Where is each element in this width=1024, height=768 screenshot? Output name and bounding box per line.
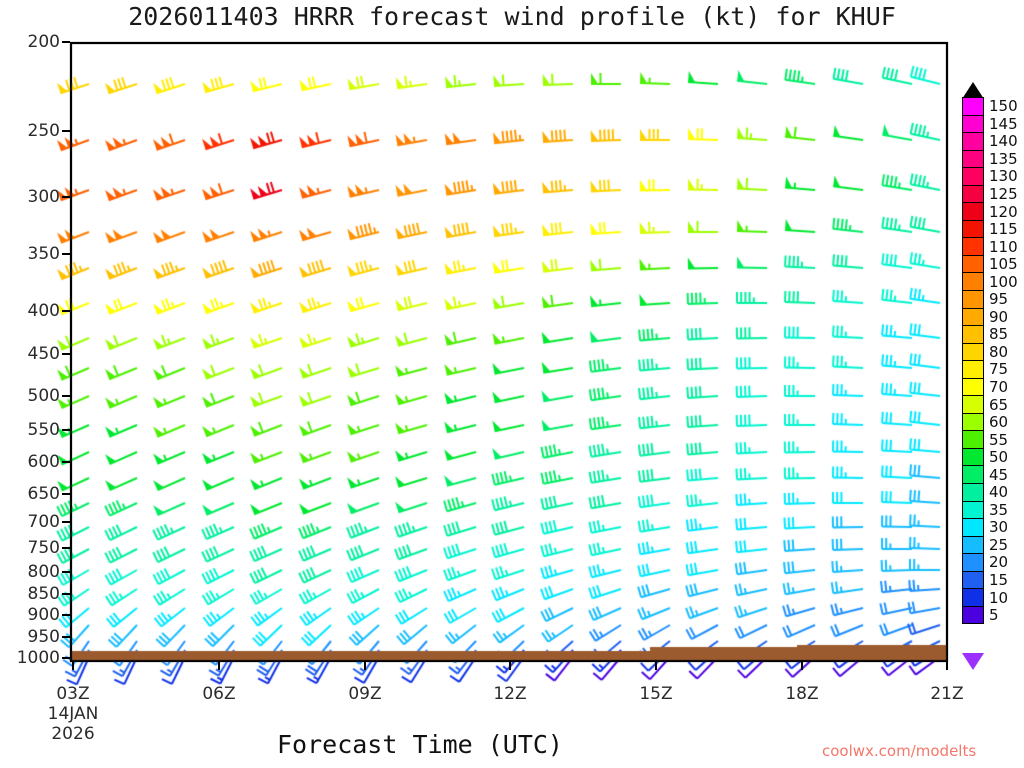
y-tick-label: 900 [4,605,60,625]
colorbar-tick-label: 135 [989,150,1018,168]
colorbar-under-arrow-icon [962,653,984,670]
x-tick-label: 09Z [348,684,381,704]
y-tick-label: 600 [4,452,60,472]
colorbar-tick-label: 150 [989,97,1018,115]
colorbar-cell: 5 [962,606,984,625]
y-tick-label: 950 [4,627,60,647]
colorbar-cell: 140 [962,132,984,151]
page-title: 2026011403 HRRR forecast wind profile (k… [0,2,1024,31]
colorbar-cell: 95 [962,290,984,309]
y-tick-label: 500 [4,386,60,406]
y-tick-mark [62,253,70,255]
x-tick-mark [509,662,511,670]
colorbar-cell: 60 [962,413,984,432]
colorbar-tick-label: 120 [989,203,1018,221]
x-tick-mark [218,662,220,670]
colorbar-tick-label: 55 [989,431,1008,449]
colorbar-tick-label: 100 [989,273,1018,291]
colorbar-tick-label: 15 [989,571,1008,589]
y-tick-mark [62,395,70,397]
colorbar-tick-label: 95 [989,290,1008,308]
colorbar-cell: 25 [962,536,984,555]
y-tick-mark [62,353,70,355]
y-tick-label: 200 [4,32,60,52]
colorbar-cell: 35 [962,501,984,520]
y-tick-mark [62,657,70,659]
x-tick-label: 18Z [785,684,818,704]
y-tick-mark [62,521,70,523]
y-tick-label: 800 [4,562,60,582]
colorbar-cell: 85 [962,325,984,344]
colorbar-cell: 55 [962,430,984,449]
x-tick-mark [946,662,948,670]
colorbar-cell: 120 [962,202,984,221]
y-tick-mark [62,196,70,198]
colorbar-cell: 45 [962,465,984,484]
colorbar-tick-label: 80 [989,343,1008,361]
colorbar-cell: 110 [962,237,984,256]
x-tick-label: 06Z [202,684,235,704]
x-tick-mark [801,662,803,670]
x-tick-mark [72,662,74,670]
colorbar-cell: 70 [962,378,984,397]
colorbar-cell: 30 [962,518,984,537]
colorbar-tick-label: 140 [989,132,1018,150]
colorbar-cell: 10 [962,588,984,607]
y-tick-label: 700 [4,512,60,532]
colorbar-cell: 150 [962,97,984,116]
x-axis-date-line1: 14JAN [48,704,99,724]
x-tick-label: 03Z [56,684,89,704]
y-tick-mark [62,310,70,312]
x-tick-label: 12Z [493,684,526,704]
colorbar-cell: 100 [962,272,984,291]
y-tick-mark [62,636,70,638]
colorbar-tick-label: 50 [989,448,1008,466]
y-tick-mark [62,614,70,616]
y-tick-label: 400 [4,301,60,321]
y-tick-mark [62,130,70,132]
wind-profile-chart: 2026011403 HRRR forecast wind profile (k… [0,0,1024,768]
colorbar-cell: 145 [962,115,984,134]
colorbar-cell: 125 [962,185,984,204]
x-axis-label: Forecast Time (UTC) [160,730,680,759]
x-tick-label: 21Z [930,684,963,704]
x-axis-date-line2: 2026 [51,724,94,744]
y-tick-mark [62,41,70,43]
y-tick-label: 250 [4,121,60,141]
colorbar-tick-label: 10 [989,589,1008,607]
y-tick-mark [62,429,70,431]
colorbar-tick-label: 45 [989,466,1008,484]
colorbar-cell: 65 [962,395,984,414]
colorbar-tick-label: 40 [989,483,1008,501]
x-tick-mark [655,662,657,670]
colorbar-tick-label: 25 [989,536,1008,554]
y-tick-label: 850 [4,584,60,604]
colorbar-tick-label: 70 [989,378,1008,396]
x-tick-label: 15Z [639,684,672,704]
colorbar-tick-label: 145 [989,115,1018,133]
colorbar-tick-label: 125 [989,185,1018,203]
colorbar-tick-label: 60 [989,413,1008,431]
colorbar[interactable]: 1501451401351301251201151101051009590858… [962,98,984,624]
y-tick-label: 650 [4,484,60,504]
x-tick-mark [364,662,366,670]
y-tick-label: 450 [4,344,60,364]
colorbar-cell: 105 [962,255,984,274]
y-tick-mark [62,461,70,463]
colorbar-cell: 135 [962,150,984,169]
colorbar-tick-label: 90 [989,308,1008,326]
site-watermark: coolwx.com/modelts [822,742,976,760]
colorbar-tick-label: 30 [989,518,1008,536]
colorbar-cell: 130 [962,167,984,186]
colorbar-tick-label: 110 [989,238,1018,256]
colorbar-tick-label: 75 [989,360,1008,378]
y-tick-label: 550 [4,420,60,440]
colorbar-cell: 40 [962,483,984,502]
colorbar-tick-label: 65 [989,396,1008,414]
colorbar-tick-label: 5 [989,606,999,624]
colorbar-cell: 115 [962,220,984,239]
colorbar-tick-label: 20 [989,553,1008,571]
y-tick-mark [62,571,70,573]
colorbar-cell: 20 [962,553,984,572]
colorbar-tick-label: 130 [989,167,1018,185]
plot-area [70,42,948,662]
colorbar-cell: 50 [962,448,984,467]
colorbar-tick-label: 35 [989,501,1008,519]
colorbar-cell: 15 [962,571,984,590]
y-tick-label: 1000 [4,648,60,668]
colorbar-cell: 80 [962,343,984,362]
y-tick-mark [62,493,70,495]
y-tick-label: 350 [4,244,60,264]
colorbar-tick-label: 85 [989,325,1008,343]
y-tick-mark [62,547,70,549]
colorbar-tick-label: 115 [989,220,1018,238]
y-tick-label: 300 [4,187,60,207]
colorbar-cell: 90 [962,308,984,327]
y-tick-label: 750 [4,538,60,558]
colorbar-tick-label: 105 [989,255,1018,273]
colorbar-cell: 75 [962,360,984,379]
y-tick-mark [62,593,70,595]
